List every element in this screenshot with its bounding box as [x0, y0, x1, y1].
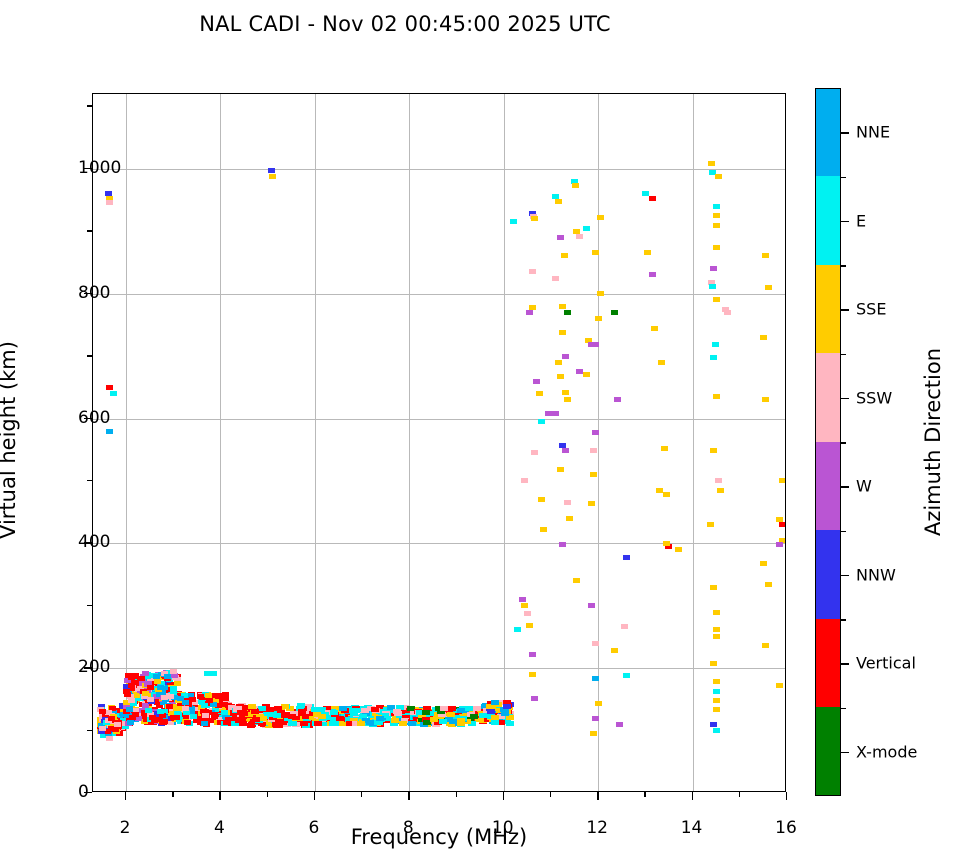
data-point — [223, 720, 230, 725]
data-point — [190, 714, 197, 719]
data-point — [765, 582, 772, 587]
data-point — [595, 316, 602, 321]
data-point — [157, 709, 164, 714]
data-point — [106, 429, 113, 434]
data-point — [269, 174, 276, 179]
data-point — [251, 709, 259, 714]
data-point — [376, 716, 384, 721]
data-point — [713, 297, 720, 302]
data-point — [663, 492, 670, 497]
x-tick-minor — [456, 792, 457, 797]
data-point — [557, 235, 564, 240]
data-point — [106, 200, 113, 205]
data-point — [710, 661, 717, 666]
y-axis-title: Virtual height (km) — [0, 341, 20, 539]
data-point — [555, 199, 562, 204]
data-point — [339, 706, 347, 711]
data-point — [399, 721, 407, 726]
data-point — [658, 360, 665, 365]
data-point — [408, 721, 416, 726]
data-point — [189, 697, 196, 702]
colorbar-label-e: E — [856, 211, 866, 230]
y-gridline — [93, 668, 785, 669]
data-point — [124, 692, 131, 697]
x-tick — [786, 792, 787, 800]
data-point — [430, 717, 438, 722]
data-point — [592, 250, 599, 255]
data-point — [138, 676, 145, 681]
data-point — [166, 704, 173, 709]
data-point — [540, 527, 547, 532]
data-point — [559, 330, 566, 335]
data-point — [538, 419, 545, 424]
data-point — [762, 253, 769, 258]
data-point — [760, 561, 767, 566]
data-point — [552, 411, 559, 416]
data-point — [391, 718, 399, 723]
data-point — [314, 721, 322, 726]
data-point — [713, 698, 720, 703]
data-point — [557, 374, 564, 379]
colorbar-segment-x-mode — [816, 707, 840, 796]
data-point — [710, 355, 717, 360]
data-point — [713, 707, 720, 712]
colorbar-segment-ssw — [816, 353, 840, 442]
x-tick — [125, 792, 126, 800]
data-point — [616, 722, 623, 727]
data-point — [145, 708, 152, 713]
x-tick-label: 10 — [492, 818, 514, 838]
data-point — [99, 726, 106, 731]
data-point — [240, 711, 248, 716]
x-gridline — [220, 94, 221, 791]
data-point — [128, 698, 135, 703]
x-gridline — [598, 94, 599, 791]
data-point — [611, 310, 618, 315]
x-tick-minor — [172, 792, 173, 797]
data-point — [595, 701, 602, 706]
data-point — [713, 634, 720, 639]
colorbar-tick — [841, 486, 849, 488]
data-point — [545, 411, 552, 416]
data-point — [106, 385, 113, 390]
data-point — [552, 276, 559, 281]
data-point — [330, 710, 338, 715]
data-point — [272, 722, 280, 727]
data-point — [708, 161, 715, 166]
y-tick-minor — [87, 355, 92, 356]
colorbar-segment-nne — [816, 88, 840, 176]
data-point — [588, 501, 595, 506]
data-point — [592, 430, 599, 435]
x-tick — [408, 792, 409, 800]
data-point — [572, 183, 579, 188]
colorbar-segment-nnw — [816, 530, 840, 619]
data-point — [206, 698, 213, 703]
colorbar-boundary-tick — [841, 531, 846, 533]
data-point — [614, 397, 621, 402]
x-tick — [597, 792, 598, 800]
data-point — [592, 342, 599, 347]
data-point — [318, 714, 326, 719]
data-point — [779, 478, 786, 483]
data-point — [361, 708, 369, 713]
y-tick-minor — [87, 105, 92, 106]
colorbar-tick — [841, 132, 849, 134]
colorbar-tick — [841, 398, 849, 400]
y-gridline — [93, 294, 785, 295]
x-tick-minor — [739, 792, 740, 797]
data-point — [531, 696, 538, 701]
data-point — [161, 719, 168, 724]
data-point — [710, 266, 717, 271]
colorbar-label-nnw: NNW — [856, 565, 896, 584]
x-tick-minor — [361, 792, 362, 797]
data-point — [592, 716, 599, 721]
y-tick-minor — [87, 230, 92, 231]
data-point — [147, 685, 154, 690]
data-point — [521, 603, 528, 608]
data-point — [519, 597, 526, 602]
data-point — [557, 467, 564, 472]
data-point — [112, 727, 119, 732]
colorbar-tick — [841, 221, 849, 223]
data-point — [661, 446, 668, 451]
colorbar-segment-e — [816, 176, 840, 265]
x-tick-label: 14 — [681, 818, 703, 838]
data-point — [562, 354, 569, 359]
data-point — [210, 671, 217, 676]
data-point — [514, 627, 521, 632]
data-point — [715, 478, 722, 483]
colorbar-boundary-tick — [841, 619, 846, 621]
data-point — [393, 709, 401, 714]
ionogram-figure: NAL CADI - Nov 02 00:45:00 2025 UTC Virt… — [0, 0, 958, 857]
colorbar-segment-w — [816, 442, 840, 531]
x-tick-label: 2 — [120, 818, 131, 838]
data-point — [760, 335, 767, 340]
data-point — [649, 196, 656, 201]
x-tick-minor — [644, 792, 645, 797]
data-point — [597, 215, 604, 220]
data-point — [710, 585, 717, 590]
colorbar-tick — [841, 752, 849, 754]
colorbar — [815, 88, 841, 796]
data-point — [352, 708, 360, 713]
x-gridline — [315, 94, 316, 791]
data-point — [592, 676, 599, 681]
data-point — [583, 372, 590, 377]
colorbar-boundary-tick — [841, 708, 846, 710]
data-point — [300, 721, 308, 726]
data-point — [713, 204, 720, 209]
data-point — [440, 706, 448, 711]
data-point — [533, 379, 540, 384]
data-point — [501, 711, 509, 716]
colorbar-segment-sse — [816, 265, 840, 354]
data-point — [713, 394, 720, 399]
data-point — [129, 673, 136, 678]
data-point — [211, 712, 218, 717]
data-point — [529, 652, 536, 657]
data-point — [201, 703, 208, 708]
data-point — [173, 706, 180, 711]
colorbar-label-w: W — [856, 477, 872, 496]
x-tick — [692, 792, 693, 800]
y-tick-minor — [87, 730, 92, 731]
data-point — [235, 718, 243, 723]
data-point — [611, 648, 618, 653]
x-tick — [219, 792, 220, 800]
data-point — [642, 191, 649, 196]
data-point — [357, 721, 365, 726]
data-point — [99, 709, 106, 714]
data-point — [524, 611, 531, 616]
data-point — [153, 674, 160, 679]
data-point — [201, 721, 208, 726]
data-point — [457, 718, 465, 723]
x-tick-label: 4 — [214, 818, 225, 838]
data-point — [576, 234, 583, 239]
data-point — [713, 679, 720, 684]
data-point — [487, 709, 495, 714]
data-point — [536, 391, 543, 396]
y-gridline — [93, 419, 785, 420]
data-point — [273, 713, 281, 718]
data-point — [713, 627, 720, 632]
data-point — [182, 706, 189, 711]
data-point — [142, 691, 149, 696]
data-point — [663, 541, 670, 546]
colorbar-boundary-tick — [841, 442, 846, 444]
plot-area — [92, 93, 786, 792]
data-point — [779, 522, 786, 527]
data-point — [531, 450, 538, 455]
data-point — [710, 448, 717, 453]
colorbar-label-sse: SSE — [856, 300, 886, 319]
data-point — [656, 488, 663, 493]
data-point — [491, 720, 499, 725]
x-tick-minor — [550, 792, 551, 797]
data-point — [538, 497, 545, 502]
data-point — [573, 578, 580, 583]
data-point — [592, 641, 599, 646]
data-point — [583, 226, 590, 231]
data-point — [510, 219, 517, 224]
data-point — [157, 685, 164, 690]
data-point — [529, 269, 536, 274]
data-point — [564, 500, 571, 505]
data-point — [258, 706, 266, 711]
data-point — [147, 697, 154, 702]
data-point — [114, 722, 121, 727]
x-tick-label: 8 — [403, 818, 414, 838]
data-point — [447, 712, 455, 717]
data-point — [564, 310, 571, 315]
data-point — [713, 213, 720, 218]
data-point — [252, 717, 260, 722]
data-point — [289, 721, 297, 726]
data-point — [142, 671, 149, 676]
data-point — [675, 547, 682, 552]
data-point — [170, 686, 177, 691]
x-tick-minor — [267, 792, 268, 797]
data-point — [566, 516, 573, 521]
data-point — [590, 731, 597, 736]
data-point — [715, 174, 722, 179]
data-point — [288, 714, 296, 719]
data-point — [564, 397, 571, 402]
colorbar-tick — [841, 575, 849, 577]
x-tick — [503, 792, 504, 800]
data-point — [529, 672, 536, 677]
data-point — [167, 694, 174, 699]
data-point — [597, 291, 604, 296]
y-gridline — [93, 543, 785, 544]
data-point — [649, 272, 656, 277]
data-point — [707, 522, 714, 527]
x-tick-label: 12 — [586, 818, 608, 838]
data-point — [562, 390, 569, 395]
data-point — [449, 719, 457, 724]
x-tick — [314, 792, 315, 800]
data-point — [710, 722, 717, 727]
data-point — [207, 718, 214, 723]
data-point — [174, 681, 181, 686]
data-point — [336, 716, 344, 721]
figure-title: NAL CADI - Nov 02 00:45:00 2025 UTC — [0, 12, 810, 36]
data-point — [651, 326, 658, 331]
data-point — [765, 285, 772, 290]
data-point — [371, 707, 379, 712]
colorbar-label-vertical: Vertical — [856, 654, 916, 673]
data-point — [717, 488, 724, 493]
data-point — [526, 623, 533, 628]
x-tick-label: 16 — [775, 818, 797, 838]
data-point — [776, 542, 783, 547]
colorbar-label-ssw: SSW — [856, 388, 892, 407]
data-point — [216, 693, 223, 698]
colorbar-label-x-mode: X-mode — [856, 742, 917, 761]
colorbar-boundary-tick — [841, 265, 846, 267]
y-gridline — [93, 169, 785, 170]
data-point — [762, 643, 769, 648]
data-point — [559, 542, 566, 547]
data-point — [562, 448, 569, 453]
colorbar-segment-vertical — [816, 619, 840, 708]
data-point — [713, 223, 720, 228]
data-point — [561, 253, 568, 258]
data-point — [149, 715, 156, 720]
data-point — [457, 708, 465, 713]
data-point — [713, 689, 720, 694]
x-gridline — [504, 94, 505, 791]
data-point — [576, 369, 583, 374]
data-point — [521, 478, 528, 483]
data-point — [439, 719, 447, 724]
data-point — [108, 716, 115, 721]
data-point — [621, 624, 628, 629]
data-point — [762, 397, 769, 402]
data-point — [491, 700, 499, 705]
y-tick-minor — [87, 480, 92, 481]
data-point — [197, 694, 204, 699]
data-point — [422, 710, 430, 715]
data-point — [173, 715, 180, 720]
data-point — [713, 245, 720, 250]
data-point — [221, 710, 228, 715]
data-point — [503, 704, 511, 709]
data-point — [470, 714, 478, 719]
data-point — [623, 555, 630, 560]
x-gridline — [409, 94, 410, 791]
data-point — [588, 603, 595, 608]
colorbar-tick — [841, 663, 849, 665]
data-point — [623, 673, 630, 678]
data-point — [712, 342, 719, 347]
data-point — [110, 391, 117, 396]
y-tick-minor — [87, 605, 92, 606]
data-point — [644, 250, 651, 255]
data-point — [590, 472, 597, 477]
x-gridline — [693, 94, 694, 791]
data-point — [170, 669, 177, 674]
colorbar-label-nne: NNE — [856, 123, 890, 142]
colorbar-title: Azimuth Direction — [921, 348, 945, 536]
data-point — [555, 360, 562, 365]
data-point — [205, 693, 212, 698]
data-point — [274, 706, 282, 711]
colorbar-boundary-tick — [841, 177, 846, 179]
data-point — [559, 304, 566, 309]
data-point — [298, 709, 306, 714]
data-point — [531, 216, 538, 221]
data-point — [184, 720, 191, 725]
data-point — [776, 517, 783, 522]
data-point — [106, 736, 113, 741]
data-point — [164, 674, 171, 679]
data-point — [709, 284, 716, 289]
colorbar-boundary-tick — [841, 354, 846, 356]
data-point — [590, 448, 597, 453]
data-point — [713, 610, 720, 615]
data-point — [776, 683, 783, 688]
data-point — [268, 168, 275, 173]
data-point — [127, 720, 134, 725]
x-tick-label: 6 — [308, 818, 319, 838]
colorbar-tick — [841, 309, 849, 311]
data-point — [526, 310, 533, 315]
data-point — [132, 712, 139, 717]
data-point — [154, 679, 161, 684]
data-point — [724, 310, 731, 315]
data-point — [182, 700, 189, 705]
data-point — [713, 728, 720, 733]
